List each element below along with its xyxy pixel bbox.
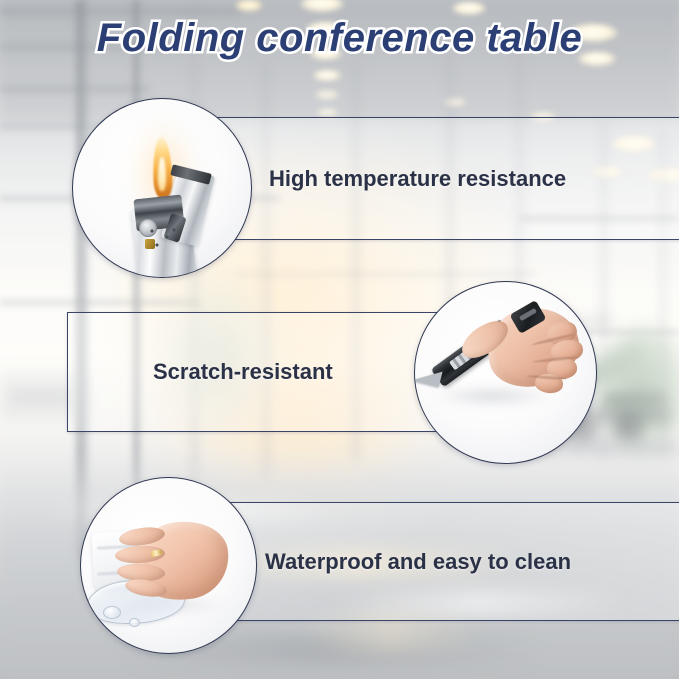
water-droplet bbox=[129, 618, 140, 627]
feature-image-bubble-cleaning bbox=[80, 477, 257, 654]
feature-image-bubble-box-cutter bbox=[414, 281, 597, 464]
page-title: Folding conference table bbox=[0, 16, 679, 61]
feature-label: High temperature resistance bbox=[269, 166, 566, 192]
hand-shadow bbox=[433, 386, 553, 406]
product-feature-infographic: Folding conference table High temperatur… bbox=[0, 0, 679, 679]
feature-label: Scratch-resistant bbox=[153, 359, 333, 385]
lighter-detail-dots bbox=[147, 227, 181, 253]
feature-label: Waterproof and easy to clean bbox=[265, 549, 571, 575]
feature-image-bubble-lighter bbox=[72, 98, 252, 278]
water-droplet bbox=[103, 606, 121, 619]
